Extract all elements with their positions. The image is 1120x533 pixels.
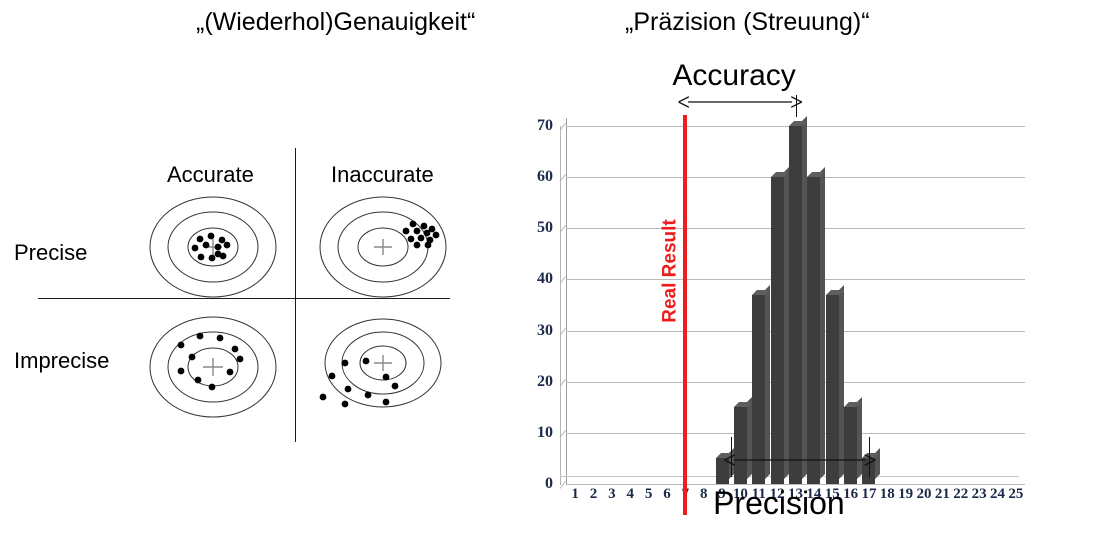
precision-histogram-chart: Accuracy 010203040506070 [505,55,1120,533]
target-inaccurate-imprecise [318,315,448,420]
bar-side [820,167,825,479]
right-panel-title: „Präzision (Streuung)“ [625,8,870,37]
y-tick-50: 50 [519,220,553,236]
y-axis-tick-labels: 010203040506070 [511,55,553,495]
accuracy-arrow [685,95,795,109]
bar-14 [807,177,820,484]
bar-side [784,167,789,479]
precision-arrow [731,453,869,467]
accuracy-annotation-label: Accuracy [672,59,795,93]
left-panel-title: „(Wiederhol)Genauigkeit“ [196,8,475,37]
row-label-precise: Precise [14,240,87,266]
bar-12 [771,177,784,484]
accuracy-right-tick [796,95,797,117]
real-result-label: Real Result [660,219,682,322]
bar-10 [734,407,747,484]
bar-side [839,285,844,479]
y-tick-60: 60 [519,169,553,185]
depth-tick-70 [560,123,566,131]
y-tick-10: 10 [519,425,553,441]
target-accurate-imprecise [148,315,278,420]
y-tick-0: 0 [519,476,553,492]
bar-16 [844,407,857,484]
bar-side [802,116,807,479]
slide-canvas: „(Wiederhol)Genauigkeit“ „Präzision (Str… [0,0,1120,533]
y-tick-20: 20 [519,374,553,390]
column-label-inaccurate: Inaccurate [331,162,434,188]
y-tick-40: 40 [519,271,553,287]
x-tick-25: 25 [1005,487,1027,502]
column-label-accurate: Accurate [167,162,254,188]
quadrant-vertical-divider [295,148,296,442]
bar-side [765,285,770,479]
row-label-imprecise: Imprecise [14,348,109,374]
bar-9 [716,458,729,484]
y-tick-30: 30 [519,323,553,339]
y-tick-70: 70 [519,118,553,134]
target-inaccurate-precise [318,195,448,300]
real-result-line [683,115,687,515]
plot-area [560,118,1025,485]
precision-right-tick [869,437,870,477]
bar-13 [789,126,802,484]
precision-annotation-label: Precision [713,485,845,522]
target-accurate-precise [148,195,278,300]
accuracy-precision-quadrant-diagram: Accurate Inaccurate Precise Imprecise [0,130,480,460]
